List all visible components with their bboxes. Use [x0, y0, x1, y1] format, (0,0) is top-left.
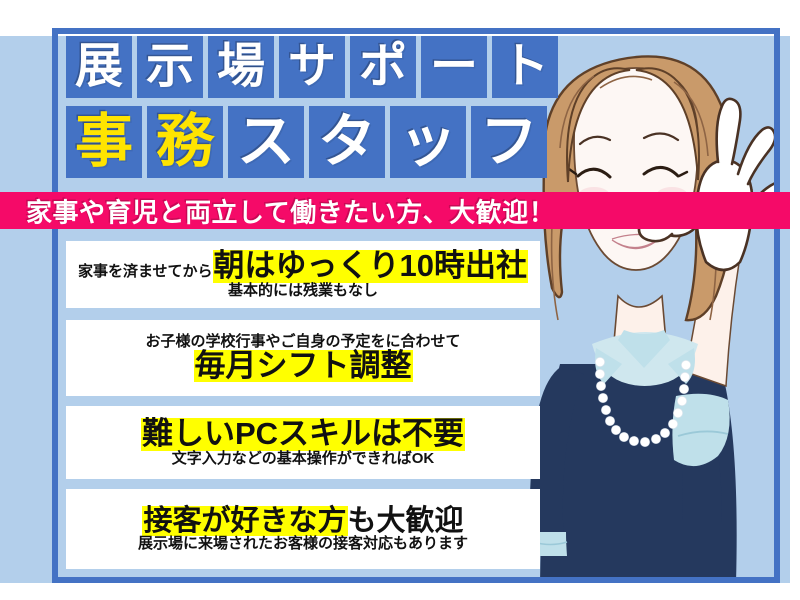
benefit-card-pc-skills: 難しいPCスキルは不要 文字入力などの基本操作ができればOK	[66, 406, 540, 479]
benefit-card-headline: 難しいPCスキルは不要	[141, 418, 465, 451]
title-tile: 展	[66, 36, 132, 98]
highlight-banner: 家事や育児と両立して働きたい方、大歓迎！	[0, 192, 790, 229]
title-row-primary: 展 示 場 サ ポ ー ト	[66, 36, 558, 98]
benefit-card-work-hours: 家事を済ませてから 朝はゆっくり10時出社 基本的には残業もなし	[66, 241, 540, 308]
title-char: 務	[156, 113, 214, 171]
title-row-secondary: 事 務 ス タ ッ フ	[66, 106, 547, 178]
title-tile-accent: 務	[147, 106, 223, 178]
title-tile: サ	[279, 36, 345, 98]
title-tile: 場	[208, 36, 274, 98]
benefit-card-sub-text: 基本的には残業もなし	[228, 283, 378, 299]
title-char: 示	[146, 43, 194, 91]
benefit-card-sub-text: 展示場に来場されたお客様の接客対応もあります	[138, 536, 468, 552]
title-tile: ポ	[350, 36, 416, 98]
title-tile: ト	[492, 36, 558, 98]
benefit-card-headline: 毎月シフト調整	[194, 350, 413, 383]
title-char: ト	[501, 43, 549, 91]
benefit-card-headline: 接客が好きな方	[142, 506, 347, 536]
title-tile-accent: 事	[66, 106, 142, 178]
title-char: ッ	[399, 113, 457, 171]
job-advertisement-poster: 展 示 場 サ ポ ー ト 事 務 ス タ ッ フ 家事や育児と両立して働きたい…	[0, 0, 800, 600]
title-char: ー	[430, 43, 478, 91]
benefit-card-headline-row: 家事を済ませてから 朝はゆっくり10時出社	[78, 250, 528, 283]
title-char: 事	[75, 113, 133, 171]
benefit-card-headline-tail: も大歓迎	[348, 506, 464, 536]
title-tile: ス	[228, 106, 304, 178]
title-tile: ー	[421, 36, 487, 98]
title-char: サ	[288, 43, 336, 91]
benefit-card-lead-text: 家事を済ませてから	[78, 264, 213, 282]
title-tile: ッ	[390, 106, 466, 178]
title-tile: フ	[471, 106, 547, 178]
title-char: 展	[75, 43, 123, 91]
benefit-card-headline-row: 接客が好きな方 も大歓迎	[142, 506, 463, 536]
benefit-card-sub-text: 文字入力などの基本操作ができればOK	[172, 451, 435, 467]
title-char: ポ	[359, 43, 407, 91]
title-tile: 示	[137, 36, 203, 98]
title-char: 場	[217, 43, 265, 91]
benefit-card-customer-service: 接客が好きな方 も大歓迎 展示場に来場されたお客様の接客対応もあります	[66, 489, 540, 569]
highlight-banner-text: 家事や育児と両立して働きたい方、大歓迎！	[26, 192, 555, 229]
title-tile: タ	[309, 106, 385, 178]
title-char: タ	[318, 113, 376, 171]
title-char: フ	[480, 113, 538, 171]
benefit-card-shift-adjustment: お子様の学校行事やご自身の予定をに合わせて 毎月シフト調整	[66, 320, 540, 396]
benefit-card-headline: 朝はゆっくり10時出社	[213, 250, 528, 283]
title-char: ス	[237, 113, 295, 171]
